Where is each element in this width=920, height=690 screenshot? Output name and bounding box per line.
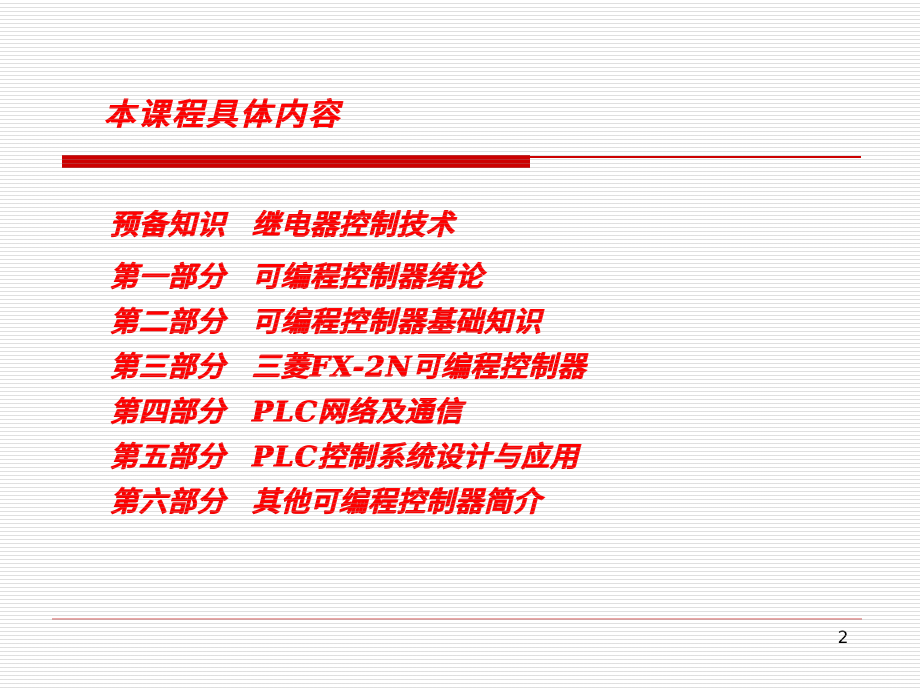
list-item: 第一部分可编程控制器绪论 xyxy=(110,263,484,291)
list-item: 第四部分PLC网络及通信 xyxy=(110,398,463,426)
list-item-value: 可编程控制器绪论 xyxy=(252,260,484,293)
list-item-value: 继电器控制技术 xyxy=(252,208,455,241)
page-number: 2 xyxy=(828,628,858,648)
list-item-label: 第四部分 xyxy=(110,395,226,428)
list-item: 第三部分三菱FX-2N可编程控制器 xyxy=(110,353,586,381)
title-underline-bar xyxy=(62,155,530,168)
list-item-value: PLC控制系统设计与应用 xyxy=(252,440,579,473)
list-item: 预备知识继电器控制技术 xyxy=(110,211,455,239)
footer-divider xyxy=(52,618,862,620)
slide-canvas: 本课程具体内容 预备知识继电器控制技术 第一部分可编程控制器绪论 第二部分可编程… xyxy=(0,0,920,690)
list-item-value: PLC网络及通信 xyxy=(252,395,463,428)
list-item-value: 可编程控制器基础知识 xyxy=(252,305,542,338)
list-item: 第二部分可编程控制器基础知识 xyxy=(110,308,542,336)
list-item: 第五部分PLC控制系统设计与应用 xyxy=(110,443,579,471)
title-underline-rule xyxy=(530,156,861,158)
list-item-label: 第二部分 xyxy=(110,305,226,338)
page-title: 本课程具体内容 xyxy=(104,100,342,131)
list-item: 第六部分其他可编程控制器简介 xyxy=(110,488,542,516)
list-item-label: 第三部分 xyxy=(110,350,226,383)
list-item-value: 其他可编程控制器简介 xyxy=(252,485,542,518)
list-item-label: 第五部分 xyxy=(110,440,226,473)
list-item-label: 第一部分 xyxy=(110,260,226,293)
list-item-label: 预备知识 xyxy=(110,208,226,241)
list-item-label: 第六部分 xyxy=(110,485,226,518)
list-item-value: 三菱FX-2N可编程控制器 xyxy=(252,350,586,383)
